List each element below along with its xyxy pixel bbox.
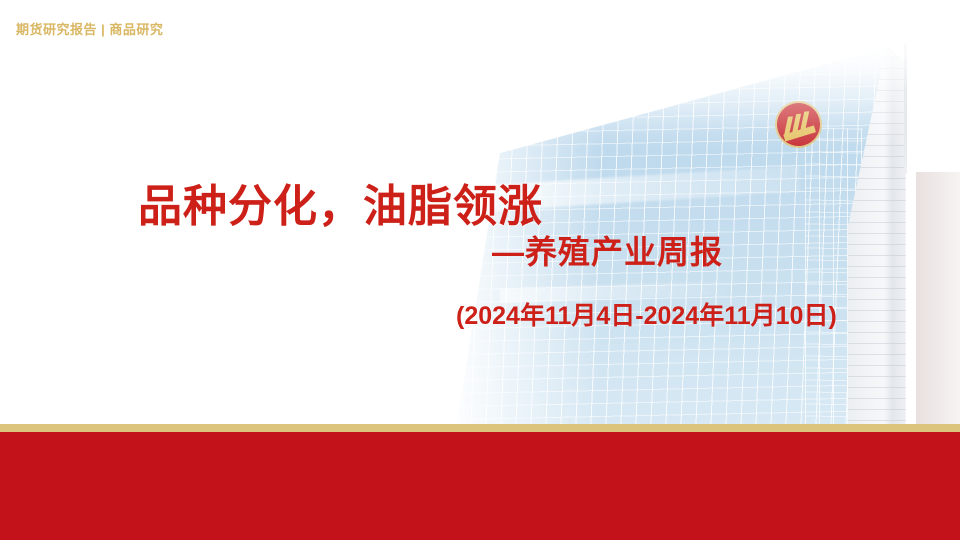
tower-right-column (805, 127, 863, 432)
facade-emblem-bar-2 (792, 114, 801, 135)
facade-emblem-icon (776, 102, 822, 148)
footer-band: • 招商农业-王真军 • wangzhenjun@cmschina.com.cn… (0, 432, 960, 540)
facade-emblem-sweep (783, 125, 816, 141)
report-period: (2024年11月4日-2024年11月10日) (456, 296, 837, 332)
facade-emblem-bar-1 (784, 116, 793, 135)
slide-root: 期货研究报告 | 商品研究 品种分化，油脂领涨 —养殖产业周报 (2024年11… (0, 0, 960, 540)
page-subtitle: —养殖产业周报 (492, 227, 723, 273)
page-title: 品种分化，油脂领涨 (138, 170, 543, 234)
photo-fade-top (380, 0, 960, 150)
tower-mast (904, 44, 907, 174)
photo-fade-top-right (700, 0, 960, 90)
tower-spire-wing (848, 46, 922, 432)
tower-far-slab (916, 172, 960, 432)
gold-divider (0, 424, 960, 432)
report-category-kicker: 期货研究报告 | 商品研究 (16, 19, 163, 38)
facade-emblem-bar-3 (800, 111, 810, 134)
